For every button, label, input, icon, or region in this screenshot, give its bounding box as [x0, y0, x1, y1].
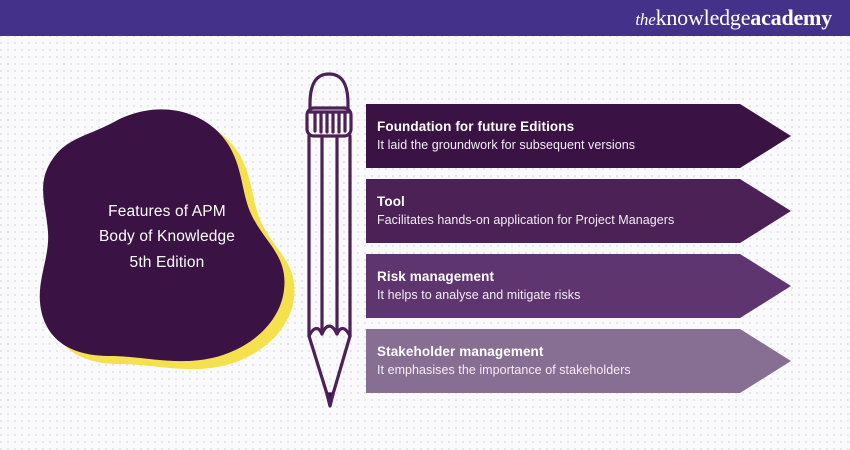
- blob-title-line-2: Body of Knowledge: [99, 224, 235, 250]
- banner-item[interactable]: Risk management It helps to analyse and …: [366, 254, 791, 318]
- infographic-canvas: theknowledgeacademy Features of APM Body…: [0, 0, 850, 450]
- banner-description: It emphasises the importance of stakehol…: [377, 362, 791, 380]
- brand-knowledge-text: knowledge: [656, 5, 751, 30]
- banner-description: It laid the groundwork for subsequent ve…: [377, 137, 791, 155]
- blob-title-line-3: 5th Edition: [130, 250, 205, 276]
- banner-list: Foundation for future Editions It laid t…: [366, 104, 791, 396]
- banner-title: Risk management: [377, 268, 791, 286]
- banner-item[interactable]: Stakeholder management It emphasises the…: [366, 329, 791, 393]
- brand-logo[interactable]: theknowledgeacademy: [635, 7, 832, 29]
- banner-title: Stakeholder management: [377, 343, 791, 361]
- blob-title-line-1: Features of APM: [108, 199, 226, 225]
- banner-description: Facilitates hands-on application for Pro…: [377, 212, 791, 230]
- banner-item[interactable]: Foundation for future Editions It laid t…: [366, 104, 791, 168]
- banner-description: It helps to analyse and mitigate risks: [377, 287, 791, 305]
- banner-title: Tool: [377, 193, 791, 211]
- brand-the-text: the: [635, 10, 655, 29]
- brand-academy-text: academy: [750, 5, 832, 30]
- pencil-icon: [296, 48, 366, 420]
- banner-item[interactable]: Tool Facilitates hands-on application fo…: [366, 179, 791, 243]
- banner-title: Foundation for future Editions: [377, 118, 791, 136]
- feature-blob: Features of APM Body of Knowledge 5th Ed…: [36, 108, 316, 378]
- header-bar: theknowledgeacademy: [0, 0, 850, 36]
- blob-title-block: Features of APM Body of Knowledge 5th Ed…: [36, 108, 298, 366]
